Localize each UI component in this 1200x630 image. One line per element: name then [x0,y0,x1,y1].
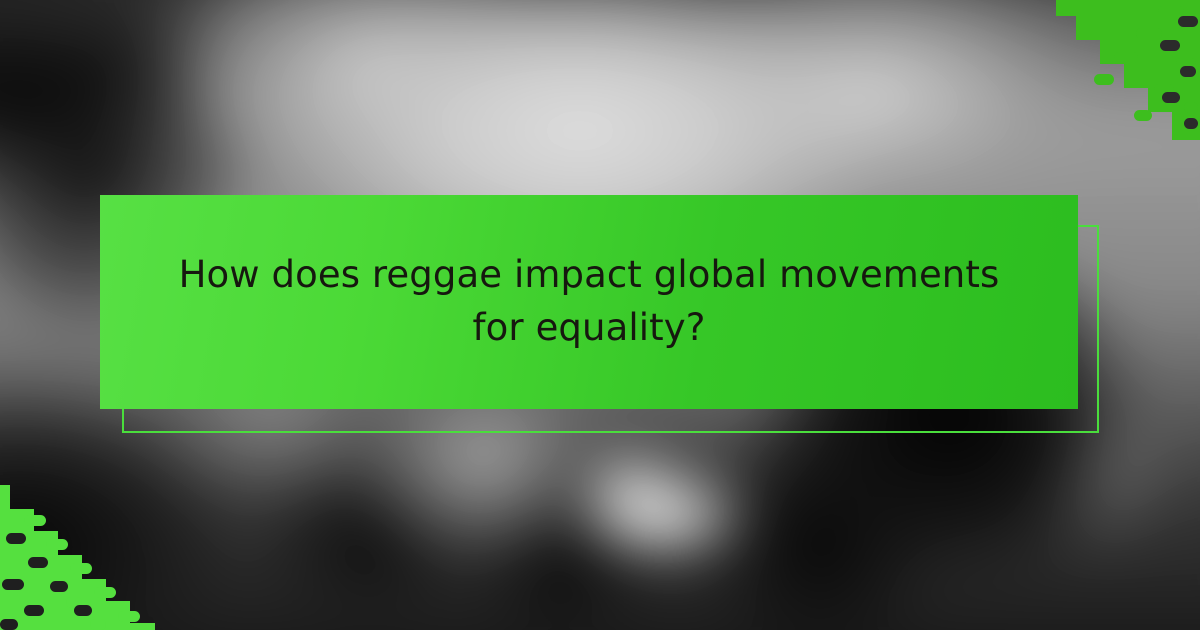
social-share-card: How does reggae impact global movements … [0,0,1200,630]
headline-text: How does reggae impact global movements … [168,249,1009,354]
headline-banner: How does reggae impact global movements … [100,195,1078,409]
